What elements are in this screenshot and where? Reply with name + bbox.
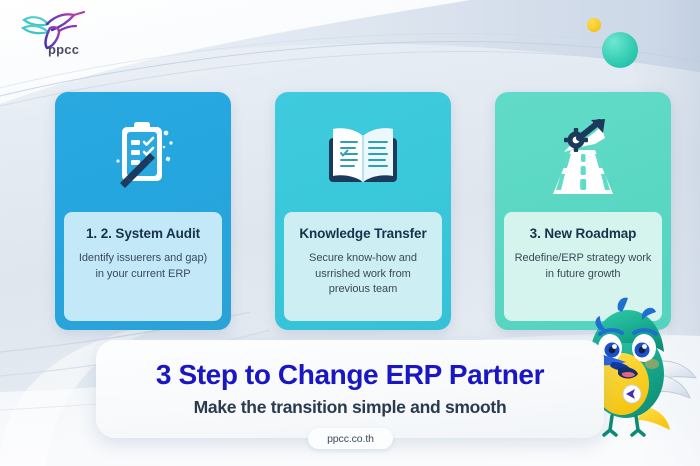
open-book-icon: [275, 106, 451, 210]
step-card-body: Identify issuerers and gap) in your curr…: [74, 251, 212, 282]
step-card-knowledge-transfer[interactable]: Knowledge Transfer Secure know-how and u…: [275, 92, 451, 330]
step-card-body: Secure know-how and usrrished work from …: [294, 251, 432, 298]
website-url-badge[interactable]: ppcc.co.th: [308, 428, 393, 449]
step-card-title: 1. 2. System Audit: [74, 226, 212, 242]
step-card-new-roadmap[interactable]: 3. New Roadmap Redefine/ERP strategy wor…: [495, 92, 671, 330]
step-card-body: Redefine/ERP strategy work in future gro…: [514, 251, 652, 282]
step-card-system-audit[interactable]: 1. 2. System Audit Identify issuerers an…: [55, 92, 231, 330]
step-card-panel: Knowledge Transfer Secure know-how and u…: [284, 212, 442, 321]
step-card-title: Knowledge Transfer: [294, 226, 432, 242]
clipboard-checklist-pen-icon: [55, 106, 231, 210]
road-arrow-gear-icon: [495, 106, 671, 210]
step-card-title: 3. New Roadmap: [514, 226, 652, 242]
step-card-panel: 1. 2. System Audit Identify issuerers an…: [64, 212, 222, 321]
bottom-banner: 3 Step to Change ERP Partner Make the tr…: [96, 340, 604, 438]
banner-title: 3 Step to Change ERP Partner: [156, 360, 544, 391]
poster-canvas: ppcc: [0, 0, 700, 466]
banner-subtitle: Make the transition simple and smooth: [194, 397, 507, 418]
